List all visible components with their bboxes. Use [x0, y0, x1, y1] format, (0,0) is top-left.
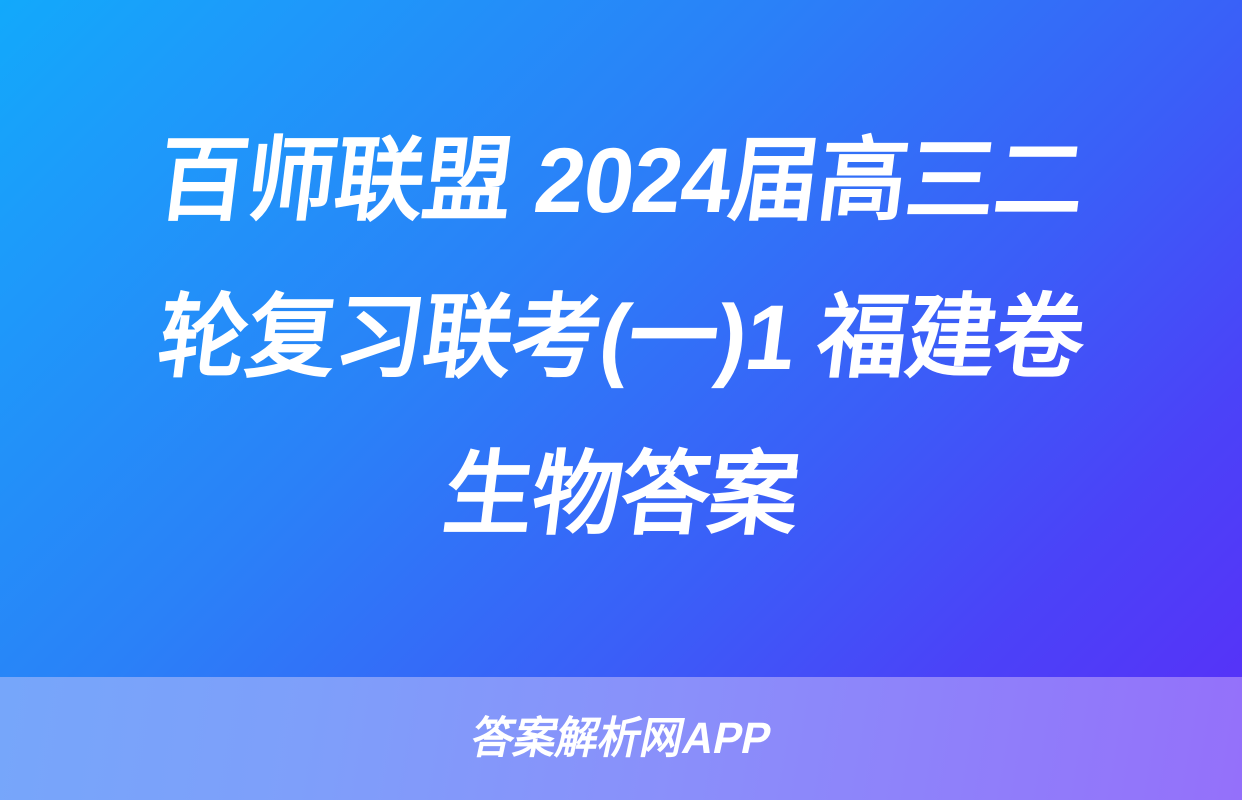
footer-watermark-bar: 答案解析网APP	[0, 677, 1242, 800]
app-watermark-label: 答案解析网APP	[467, 717, 774, 761]
title-line-1: 百师联盟 2024届高三二	[68, 103, 1174, 260]
hero-section: 百师联盟 2024届高三二 轮复习联考(一)1 福建卷 生物答案	[0, 0, 1242, 677]
poster-title: 百师联盟 2024届高三二 轮复习联考(一)1 福建卷 生物答案	[61, 103, 1181, 574]
poster-canvas: 百师联盟 2024届高三二 轮复习联考(一)1 福建卷 生物答案 答案解析网AP…	[0, 0, 1242, 800]
title-line-3: 生物答案	[68, 417, 1174, 574]
title-line-2: 轮复习联考(一)1 福建卷	[68, 260, 1174, 417]
